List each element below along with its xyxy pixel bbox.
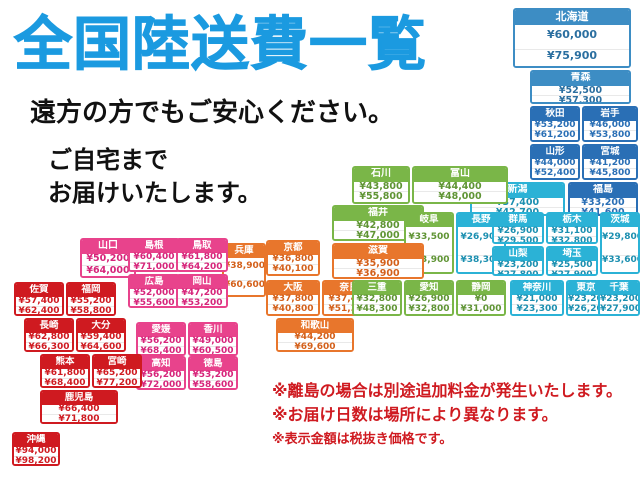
pref-box-yamagata: 山形¥44,000¥52,400 xyxy=(530,144,580,180)
pref-price-premium-kagoshima: ¥71,800 xyxy=(42,414,116,424)
pref-box-ibaraki: 茨城¥29,800¥33,600 xyxy=(600,212,640,274)
pref-price-normal-yamaguchi: ¥50,200 xyxy=(82,254,134,264)
pref-price-premium-ehime: ¥68,400 xyxy=(138,346,184,356)
pref-price-premium-hokkaido: ¥75,900 xyxy=(515,49,629,62)
note-delivery-days: ※お届け日数は場所により異なります。 xyxy=(272,401,558,425)
pref-box-shizuoka: 静岡¥0¥31,000 xyxy=(456,280,506,316)
pref-box-yamanashi: 山梨¥23,200¥27,800 xyxy=(492,246,544,276)
pref-values-akita: ¥53,200¥61,200 xyxy=(532,121,578,141)
pref-box-hokkaido: 北海道¥60,000¥75,900 xyxy=(513,8,631,68)
pref-name-aomori: 青森 xyxy=(532,72,629,86)
pref-price-premium-akita: ¥61,200 xyxy=(532,130,578,140)
pref-box-miyagi: 宮城¥41,200¥45,800 xyxy=(582,144,638,180)
note-remote-islands: ※離島の場合は別途追加料金が発生いたします。 xyxy=(272,377,622,401)
pref-price-normal-miyagi: ¥41,200 xyxy=(584,159,636,168)
pref-price-normal-kumamoto: ¥61,800 xyxy=(42,369,88,378)
pref-price-premium-kanagawa: ¥23,300 xyxy=(512,304,562,314)
pref-name-toyama: 富山 xyxy=(414,168,506,182)
pref-values-yamagata: ¥44,000¥52,400 xyxy=(532,159,578,179)
pref-box-mie: 三重¥32,800¥48,300 xyxy=(352,280,402,316)
pref-values-shimane: ¥60,400¥71,000 xyxy=(130,253,178,272)
pref-price-normal-iwate: ¥46,000 xyxy=(584,121,636,130)
pref-name-ishikawa: 石川 xyxy=(354,168,408,182)
pref-price-normal-gifu: ¥33,500 xyxy=(406,233,452,242)
pref-price-premium-gunma: ¥29,500 xyxy=(494,236,542,244)
pref-price-normal-shiga: ¥35,900 xyxy=(334,259,422,269)
pref-values-okinawa: ¥94,000¥98,200 xyxy=(14,447,58,466)
pref-price-premium-yamagata: ¥52,400 xyxy=(532,168,578,178)
pref-price-normal-gunma: ¥26,900 xyxy=(494,227,542,236)
pref-price-premium-wakayama: ¥69,600 xyxy=(278,342,352,352)
pref-values-yamanashi: ¥23,200¥27,800 xyxy=(494,261,542,276)
pref-values-saitama: ¥25,500¥27,900 xyxy=(548,261,596,276)
pref-price-normal-tokushima: ¥53,200 xyxy=(190,371,236,380)
pref-name-ibaraki: 茨城 xyxy=(602,214,638,227)
pref-box-gunma: 群馬¥26,900¥29,500 xyxy=(492,212,544,244)
pref-price-normal-aichi: ¥26,900 xyxy=(406,295,452,304)
pref-price-normal-nagasaki: ¥62,800 xyxy=(26,333,72,342)
pref-price-normal-okinawa: ¥94,000 xyxy=(14,447,58,456)
pref-price-premium-kochi: ¥72,000 xyxy=(138,380,184,390)
pref-box-ishikawa: 石川¥43,800¥55,800 xyxy=(352,166,410,204)
pref-price-premium-nagasaki: ¥66,300 xyxy=(26,342,72,352)
pref-box-osaka: 大阪¥37,800¥40,800 xyxy=(266,280,320,316)
pref-price-normal-aomori: ¥52,500 xyxy=(532,86,629,96)
pref-values-tochigi: ¥31,100¥32,800 xyxy=(548,227,596,244)
page-title: 全国陸送費一覧 xyxy=(14,8,454,80)
pref-box-saitama: 埼玉¥25,500¥27,900 xyxy=(546,246,598,276)
pref-box-shiga: 滋賀¥35,900¥36,900 xyxy=(332,243,424,279)
pref-price-normal-hyogo: ¥38,900 xyxy=(224,262,264,271)
pref-price-premium-kagawa: ¥60,500 xyxy=(190,346,236,356)
pref-values-aichi: ¥26,900¥32,800 xyxy=(406,295,452,315)
pref-box-kyoto: 京都¥36,800¥40,100 xyxy=(266,240,320,276)
pref-values-kanagawa: ¥21,000¥23,300 xyxy=(512,295,562,315)
pref-price-premium-miyazaki: ¥77,200 xyxy=(94,378,140,388)
pref-values-ibaraki: ¥29,800¥33,600 xyxy=(602,227,638,272)
pref-price-normal-hiroshima: ¥52,000 xyxy=(130,289,178,298)
pref-box-akita: 秋田¥53,200¥61,200 xyxy=(530,106,580,142)
pref-price-normal-chiba: ¥23,200 xyxy=(600,295,638,304)
pref-price-normal-fukushima: ¥33,200 xyxy=(570,198,636,208)
pref-values-kagawa: ¥49,000¥60,500 xyxy=(190,337,236,356)
pref-box-ehime: 愛媛¥56,200¥68,400 xyxy=(136,322,186,356)
pref-price-normal-shimane: ¥60,400 xyxy=(130,253,178,262)
pref-price-premium-mie: ¥48,300 xyxy=(354,304,400,314)
pref-name-shiga: 滋賀 xyxy=(334,245,422,259)
pref-price-premium-aomori: ¥57,300 xyxy=(532,95,629,104)
pref-values-gunma: ¥26,900¥29,500 xyxy=(494,227,542,244)
pref-box-kagawa: 香川¥49,000¥60,500 xyxy=(188,322,238,356)
pref-price-premium-aichi: ¥32,800 xyxy=(406,304,452,314)
pref-box-oita: 大分¥59,400¥64,600 xyxy=(76,318,126,352)
pref-values-okayama: ¥47,200¥53,200 xyxy=(178,289,226,308)
pref-box-aichi: 愛知¥26,900¥32,800 xyxy=(404,280,454,316)
subtitle-primary: 遠方の方でもご安心ください。 xyxy=(30,98,460,128)
pref-name-hyogo: 兵庫 xyxy=(224,245,264,258)
pref-price-normal-oita: ¥59,400 xyxy=(78,333,124,342)
pref-box-tochigi: 栃木¥31,100¥32,800 xyxy=(546,212,598,244)
pref-price-premium-shizuoka: ¥31,000 xyxy=(458,304,504,314)
pref-price-premium-kyoto: ¥40,100 xyxy=(268,264,318,274)
pref-values-aomori: ¥52,500¥57,300 xyxy=(532,86,629,105)
pref-box-okinawa: 沖縄¥94,000¥98,200 xyxy=(12,432,60,466)
pref-price-premium-miyagi: ¥45,800 xyxy=(584,168,636,178)
pref-price-normal-kanagawa: ¥21,000 xyxy=(512,295,562,304)
pref-price-normal-tochigi: ¥31,100 xyxy=(548,227,596,236)
pref-box-hyogo: 兵庫¥38,900¥60,600 xyxy=(222,243,266,297)
pref-box-okayama: 岡山¥47,200¥53,200 xyxy=(176,274,228,308)
pref-price-normal-kagoshima: ¥66,400 xyxy=(42,405,116,414)
pref-price-premium-fukuoka: ¥58,800 xyxy=(68,306,114,316)
pref-box-kanagawa: 神奈川¥21,000¥23,300 xyxy=(510,280,564,316)
pref-values-nagasaki: ¥62,800¥66,300 xyxy=(26,333,72,352)
pref-price-premium-hiroshima: ¥55,600 xyxy=(130,298,178,308)
pref-box-fukuoka: 福岡¥55,200¥58,800 xyxy=(66,282,116,316)
pref-price-normal-saga: ¥57,400 xyxy=(16,297,62,306)
pref-values-tottori: ¥61,800¥64,200 xyxy=(178,253,226,272)
pref-box-shimane: 島根¥60,400¥71,000 xyxy=(128,238,180,272)
pref-box-toyama: 富山¥44,400¥48,000 xyxy=(412,166,508,204)
pref-box-fukushima: 福島¥33,200¥41,600 xyxy=(568,182,638,216)
pref-values-toyama: ¥44,400¥48,000 xyxy=(414,182,506,203)
pref-values-miyagi: ¥41,200¥45,800 xyxy=(584,159,636,179)
pref-values-iwate: ¥46,000¥53,800 xyxy=(584,121,636,141)
pref-price-normal-ibaraki: ¥29,800 xyxy=(602,233,638,242)
pref-price-normal-okayama: ¥47,200 xyxy=(178,289,226,298)
shipping-cost-infographic: 全国陸送費一覧 遠方の方でもご安心ください。 ご自宅まで お届けいたします。 北… xyxy=(0,0,640,480)
pref-price-normal-wakayama: ¥44,200 xyxy=(278,333,352,342)
pref-name-yamaguchi: 山口 xyxy=(82,240,134,254)
pref-price-premium-shiga: ¥36,900 xyxy=(334,268,422,279)
pref-values-kagoshima: ¥66,400¥71,800 xyxy=(42,405,116,424)
pref-box-miyazaki: 宮崎¥65,200¥77,200 xyxy=(92,354,142,388)
pref-price-normal-shizuoka: ¥0 xyxy=(458,295,504,304)
pref-box-tottori: 鳥取¥61,800¥64,200 xyxy=(176,238,228,272)
pref-price-normal-kochi: ¥56,200 xyxy=(138,371,184,380)
pref-price-normal-kyoto: ¥36,800 xyxy=(268,255,318,264)
pref-box-iwate: 岩手¥46,000¥53,800 xyxy=(582,106,638,142)
pref-values-tokushima: ¥53,200¥58,600 xyxy=(190,371,236,390)
pref-name-fukushima: 福島 xyxy=(570,184,636,198)
pref-price-normal-ehime: ¥56,200 xyxy=(138,337,184,346)
pref-price-normal-mie: ¥32,800 xyxy=(354,295,400,304)
pref-price-premium-okayama: ¥53,200 xyxy=(178,298,226,308)
pref-values-hiroshima: ¥52,000¥55,600 xyxy=(130,289,178,308)
pref-box-wakayama: 和歌山¥44,200¥69,600 xyxy=(276,318,354,352)
pref-values-chiba: ¥23,200¥27,900 xyxy=(600,295,638,315)
pref-price-premium-ishikawa: ¥55,800 xyxy=(354,191,408,202)
pref-price-normal-miyazaki: ¥65,200 xyxy=(94,369,140,378)
pref-price-premium-toyama: ¥48,000 xyxy=(414,191,506,202)
pref-values-mie: ¥32,800¥48,300 xyxy=(354,295,400,315)
pref-price-premium-iwate: ¥53,800 xyxy=(584,130,636,140)
pref-values-kochi: ¥56,200¥72,000 xyxy=(138,371,184,390)
pref-price-premium-osaka: ¥40,800 xyxy=(268,304,318,314)
pref-price-premium-tochigi: ¥32,800 xyxy=(548,236,596,244)
pref-values-oita: ¥59,400¥64,600 xyxy=(78,333,124,352)
pref-values-kyoto: ¥36,800¥40,100 xyxy=(268,255,318,275)
pref-box-chiba: 千葉¥23,200¥27,900 xyxy=(598,280,640,316)
pref-price-normal-ishikawa: ¥43,800 xyxy=(354,182,408,192)
pref-box-kumamoto: 熊本¥61,800¥68,400 xyxy=(40,354,90,388)
pref-box-saga: 佐賀¥57,400¥62,400 xyxy=(14,282,64,316)
pref-values-miyazaki: ¥65,200¥77,200 xyxy=(94,369,140,388)
pref-values-saga: ¥57,400¥62,400 xyxy=(16,297,62,316)
pref-price-normal-yamagata: ¥44,000 xyxy=(532,159,578,168)
pref-values-shizuoka: ¥0¥31,000 xyxy=(458,295,504,315)
pref-values-shiga: ¥35,900¥36,900 xyxy=(334,259,422,280)
pref-box-kochi: 高知¥56,200¥72,000 xyxy=(136,356,186,390)
pref-price-premium-hyogo: ¥60,600 xyxy=(224,280,264,290)
pref-price-premium-yamaguchi: ¥64,000 xyxy=(82,265,134,276)
pref-price-premium-saga: ¥62,400 xyxy=(16,306,62,316)
pref-price-normal-kagawa: ¥49,000 xyxy=(190,337,236,346)
pref-price-normal-hokkaido: ¥60,000 xyxy=(515,29,629,41)
note-tax-excluded: ※表示金額は税抜き価格です。 xyxy=(272,428,452,447)
pref-values-hyogo: ¥38,900¥60,600 xyxy=(224,258,264,295)
pref-price-premium-shimane: ¥71,000 xyxy=(130,262,178,272)
pref-price-premium-okinawa: ¥98,200 xyxy=(14,456,58,466)
pref-box-kagoshima: 鹿児島¥66,400¥71,800 xyxy=(40,390,118,424)
pref-price-normal-fukuoka: ¥55,200 xyxy=(68,297,114,306)
pref-values-yamaguchi: ¥50,200¥64,000 xyxy=(82,254,134,277)
pref-price-premium-kumamoto: ¥68,400 xyxy=(42,378,88,388)
pref-price-premium-tottori: ¥64,200 xyxy=(178,262,226,272)
pref-name-hokkaido: 北海道 xyxy=(515,10,629,25)
pref-price-normal-tottori: ¥61,800 xyxy=(178,253,226,262)
pref-price-premium-yamanashi: ¥27,800 xyxy=(494,270,542,276)
pref-values-hokkaido: ¥60,000¥75,900 xyxy=(515,25,629,66)
pref-values-ehime: ¥56,200¥68,400 xyxy=(138,337,184,356)
pref-price-normal-toyama: ¥44,400 xyxy=(414,182,506,192)
pref-box-aomori: 青森¥52,500¥57,300 xyxy=(530,70,631,104)
pref-values-kumamoto: ¥61,800¥68,400 xyxy=(42,369,88,388)
pref-values-fukuoka: ¥55,200¥58,800 xyxy=(68,297,114,316)
pref-price-normal-yamanashi: ¥23,200 xyxy=(494,261,542,270)
pref-price-premium-saitama: ¥27,900 xyxy=(548,270,596,276)
pref-price-normal-osaka: ¥37,800 xyxy=(268,295,318,304)
pref-values-ishikawa: ¥43,800¥55,800 xyxy=(354,182,408,203)
pref-price-normal-akita: ¥53,200 xyxy=(532,121,578,130)
pref-values-wakayama: ¥44,200¥69,600 xyxy=(278,333,352,352)
pref-price-normal-saitama: ¥25,500 xyxy=(548,261,596,270)
pref-box-tokushima: 徳島¥53,200¥58,600 xyxy=(188,356,238,390)
pref-price-premium-oita: ¥64,600 xyxy=(78,342,124,352)
pref-box-hiroshima: 広島¥52,000¥55,600 xyxy=(128,274,180,308)
pref-values-osaka: ¥37,800¥40,800 xyxy=(268,295,318,315)
pref-box-nagasaki: 長崎¥62,800¥66,300 xyxy=(24,318,74,352)
pref-price-premium-chiba: ¥27,900 xyxy=(600,304,638,314)
pref-name-gifu: 岐阜 xyxy=(406,214,452,227)
pref-price-premium-tokushima: ¥58,600 xyxy=(190,380,236,390)
pref-price-premium-ibaraki: ¥33,600 xyxy=(602,255,638,265)
